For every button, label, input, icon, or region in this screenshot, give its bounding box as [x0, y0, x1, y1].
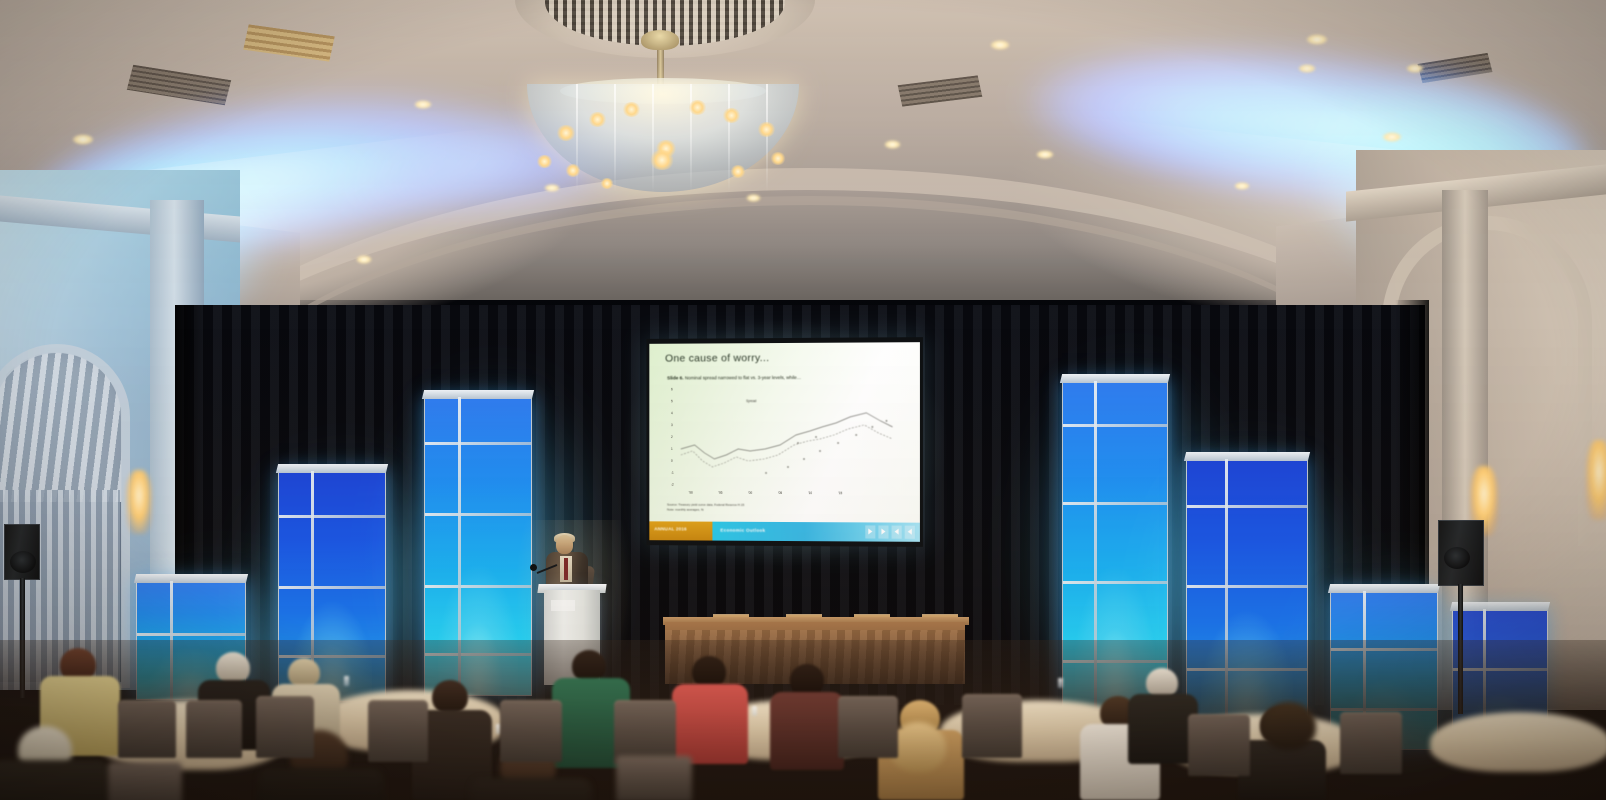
- downlight-icon: [1382, 132, 1402, 142]
- downlight-icon: [884, 140, 901, 149]
- audience-member-foreground: [1262, 702, 1316, 750]
- prev-icon[interactable]: [878, 525, 888, 538]
- chart-lines: [671, 387, 901, 496]
- banquet-chair: [962, 694, 1022, 758]
- downlight-icon: [1036, 150, 1054, 159]
- chandelier-bulb: [757, 122, 776, 137]
- slide-footer-bar: ANNUAL 2016 Economic Outlook: [649, 521, 920, 542]
- chandelier-bulb: [622, 102, 641, 117]
- next-all-icon[interactable]: [905, 526, 915, 539]
- audience-member-foreground-torso: [258, 768, 384, 800]
- chandelier-bulb: [556, 125, 576, 141]
- banquet-chair: [256, 696, 314, 758]
- water-glass: [1058, 678, 1063, 688]
- slide-chart: Spread 6 5 4 3 2 1 0 -1 -2 '90 '95 '00 '…: [671, 387, 901, 498]
- chandelier-bulb: [536, 155, 553, 168]
- downlight-icon: [544, 184, 560, 192]
- slide-source: Source: Treasury yield curve data, Feder…: [667, 503, 744, 513]
- downlight-icon: [746, 194, 761, 202]
- audience-member-foreground-torso: [470, 778, 592, 800]
- slide-subtitle: Slide 6. Nominal spread narrowed to flat…: [667, 375, 801, 382]
- slide-footer-text: Economic Outlook: [720, 527, 765, 532]
- slide-footer-logo-text: ANNUAL 2016: [654, 526, 687, 531]
- banquet-chair: [368, 700, 428, 762]
- downlight-icon: [1234, 182, 1250, 190]
- chandelier-bulb: [730, 165, 746, 178]
- presenter-tie: [564, 558, 568, 580]
- chandelier-bulb: [688, 100, 707, 115]
- wall-sconce-icon: [126, 470, 152, 534]
- next-icon[interactable]: [892, 526, 902, 539]
- projection-screen: One cause of worry... Slide 6. Nominal s…: [646, 337, 923, 547]
- water-glass: [752, 706, 757, 716]
- water-glass: [344, 676, 349, 686]
- banquet-chair: [614, 700, 676, 764]
- audience-member-torso: [672, 684, 748, 764]
- wall-sconce-icon: [1586, 440, 1606, 520]
- slide-subtitle-text: Nominal spread narrowed to flat vs. 3-ye…: [685, 375, 801, 380]
- chandelier-bulb: [770, 152, 786, 165]
- microphone-icon: [530, 564, 537, 571]
- banquet-chair: [838, 696, 898, 758]
- presentation-slide: One cause of worry... Slide 6. Nominal s…: [649, 342, 920, 542]
- downlight-icon: [1306, 34, 1328, 45]
- banquet-chair: [186, 700, 242, 758]
- chandelier-bulb: [565, 164, 581, 177]
- downlight-icon: [1298, 64, 1316, 73]
- chandelier-bulb: [649, 150, 675, 170]
- downlight-icon: [356, 255, 372, 264]
- banquet-chair: [500, 700, 562, 762]
- chandelier-bulb: [588, 112, 607, 127]
- slide-subtitle-lead: Slide 6.: [667, 376, 684, 381]
- banquet-chair: [118, 700, 176, 758]
- downlight-icon: [1406, 64, 1424, 73]
- slide-footer-logo: ANNUAL 2016: [649, 521, 712, 540]
- audience-member-torso: [770, 692, 844, 770]
- chandelier-bulb: [722, 108, 741, 123]
- audience-member: [432, 680, 468, 714]
- downlight-icon: [72, 134, 94, 145]
- slide-title: One cause of worry...: [665, 352, 769, 364]
- chandelier-canopy: [641, 30, 679, 50]
- slide-nav-buttons[interactable]: [865, 525, 915, 538]
- banquet-chair: [108, 762, 182, 800]
- chandelier-bulb: [600, 178, 614, 189]
- banquet-table: [1430, 712, 1606, 772]
- banquet-chair: [616, 756, 692, 800]
- banquet-chair: [1188, 714, 1250, 776]
- pa-speaker-right: [1438, 520, 1484, 586]
- downlight-icon: [414, 100, 432, 109]
- ballroom-scene: One cause of worry... Slide 6. Nominal s…: [0, 0, 1606, 800]
- audience-member-foreground-torso: [0, 760, 110, 800]
- presenter-head: [556, 535, 573, 554]
- slide-source-line-2: Note: monthly averages, %: [667, 507, 744, 512]
- lectern-plate: [551, 600, 575, 611]
- downlight-icon: [990, 40, 1010, 50]
- audience-member-foreground: [890, 722, 946, 772]
- banquet-chair: [1340, 712, 1402, 774]
- pa-speaker-left: [4, 524, 40, 580]
- prev-all-icon[interactable]: [865, 525, 875, 538]
